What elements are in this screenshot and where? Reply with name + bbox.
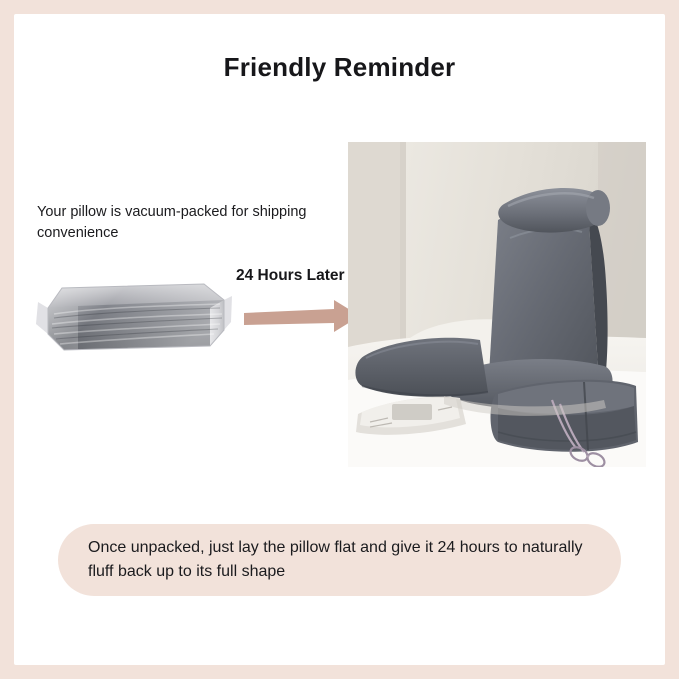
page-title: Friendly Reminder (14, 52, 665, 83)
bottom-banner: Once unpacked, just lay the pillow flat … (58, 524, 621, 596)
vacuum-packed-pillow-image (34, 262, 234, 362)
product-photo (348, 142, 646, 467)
content-card: Friendly Reminder Your pillow is vacuum-… (14, 14, 665, 665)
banner-text: Once unpacked, just lay the pillow flat … (58, 536, 621, 584)
vacuum-pack-caption: Your pillow is vacuum-packed for shippin… (37, 202, 307, 244)
arrow-icon (242, 297, 362, 337)
